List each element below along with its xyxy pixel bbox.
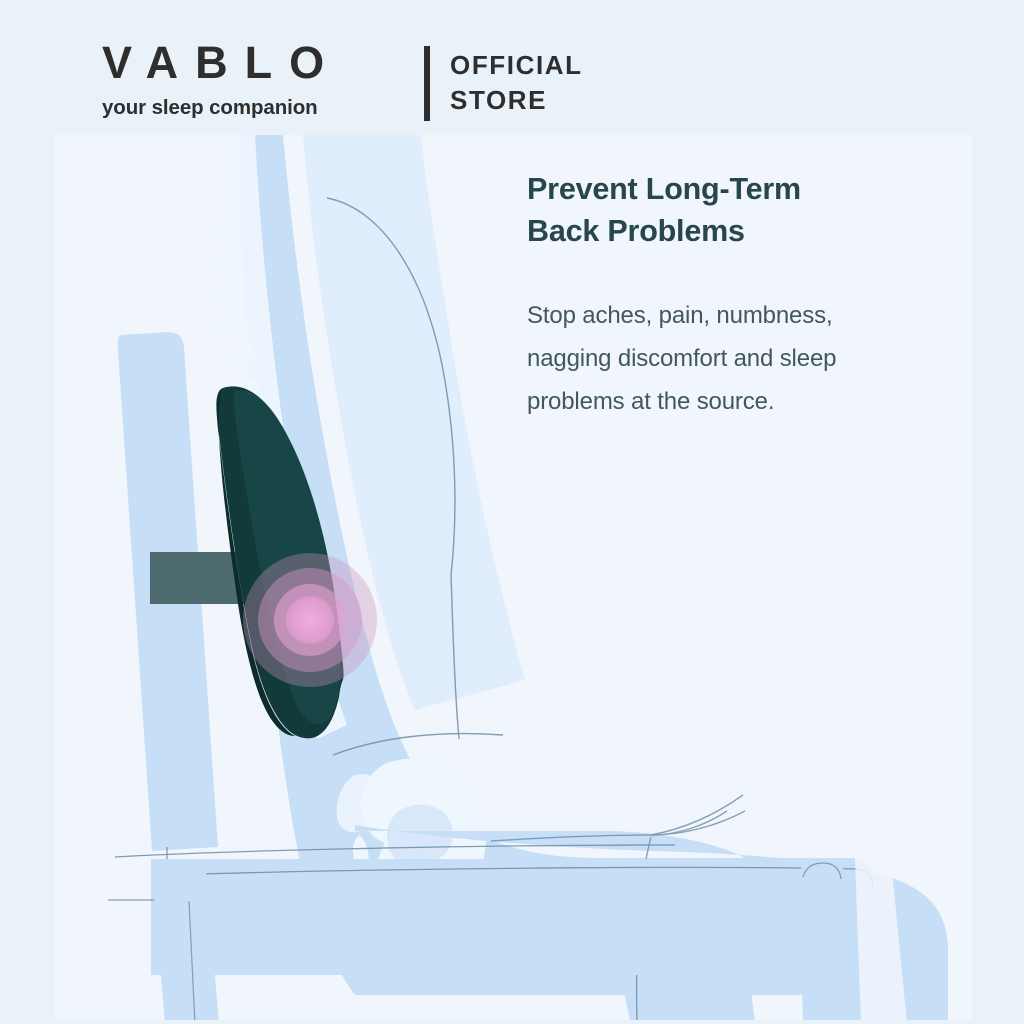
- brand-wordmark: VABLO: [102, 37, 402, 89]
- bottom-margin-strip: [0, 1020, 1024, 1024]
- body-copy: Stop aches, pain, numbness, nagging disc…: [527, 294, 947, 423]
- chair-seat: [151, 859, 873, 975]
- store-line-2: STORE: [450, 83, 583, 118]
- headline-line-1: Prevent Long-Term: [527, 168, 947, 210]
- page-title: Prevent Long-Term Back Problems: [527, 168, 947, 252]
- store-line-1: OFFICIAL: [450, 48, 583, 83]
- left-margin-strip: [0, 0, 55, 1024]
- official-store-badge: OFFICIAL STORE: [450, 48, 583, 118]
- body-line-3: problems at the source.: [527, 380, 947, 423]
- brand-header: VABLO your sleep companion OFFICIAL STOR…: [0, 0, 1024, 135]
- pain-point-glow: [243, 553, 377, 687]
- brand-tagline: your sleep companion: [102, 95, 402, 121]
- poster-canvas: Prevent Long-Term Back Problems Stop ach…: [0, 0, 1024, 1024]
- chair-front-leg: [799, 859, 855, 1024]
- brand-divider-rule: [424, 46, 430, 121]
- headline-line-2: Back Problems: [527, 210, 947, 252]
- brand-lockup: VABLO your sleep companion: [102, 37, 402, 121]
- body-line-2: nagging discomfort and sleep: [527, 337, 947, 380]
- marketing-copy: Prevent Long-Term Back Problems Stop ach…: [527, 168, 947, 423]
- body-line-1: Stop aches, pain, numbness,: [527, 294, 947, 337]
- right-margin-strip: [972, 0, 1024, 1024]
